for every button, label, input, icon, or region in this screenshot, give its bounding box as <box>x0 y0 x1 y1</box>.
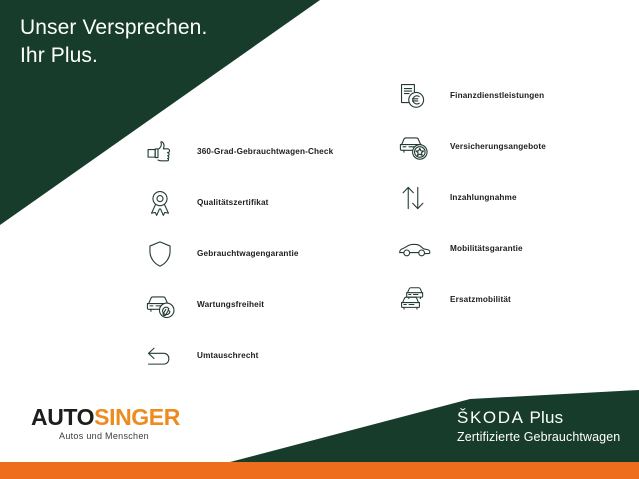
feature-item-insurance-offers: Versicherungsangebote <box>398 121 628 172</box>
page-title: Unser Versprechen. Ihr Plus. <box>20 14 320 70</box>
feature-item-360-check: 360-Grad-Gebrauchtwagen-Check <box>145 126 385 177</box>
feature-label: Ersatzmobilität <box>450 294 511 305</box>
car-star-icon <box>398 125 450 169</box>
feature-item-return-right: Umtauschrecht <box>145 330 385 381</box>
car-side-icon <box>398 227 450 271</box>
shield-icon <box>145 232 197 276</box>
brand-badge-title: ŠKODA Plus <box>457 408 637 428</box>
brand-badge: ŠKODA Plus Zertifizierte Gebrauchtwagen <box>457 408 637 445</box>
dealer-logo: AUTOSINGER Autos und Menschen <box>31 404 231 441</box>
feature-item-warranty: Gebrauchtwagengarantie <box>145 228 385 279</box>
brand-suffix: Plus <box>529 408 563 427</box>
car-wrench-icon <box>145 283 197 327</box>
feature-label: Mobilitätsgarantie <box>450 243 523 254</box>
page-title-line-2: Ihr Plus. <box>20 42 320 70</box>
page-title-line-1: Unser Versprechen. <box>20 14 320 42</box>
two-cars-icon <box>398 278 450 322</box>
feature-list-left: 360-Grad-Gebrauchtwagen-Check Qualitätsz… <box>145 126 385 381</box>
thumbs-up-icon <box>145 130 197 174</box>
document-euro-icon <box>398 74 450 118</box>
feature-label: Qualitätszertifikat <box>197 197 269 208</box>
feature-label: Inzahlungnahme <box>450 192 517 203</box>
feature-item-trade-in: Inzahlungnahme <box>398 172 628 223</box>
footer-orange-bar <box>0 462 639 479</box>
feature-label: 360-Grad-Gebrauchtwagen-Check <box>197 146 333 157</box>
feature-item-quality-certificate: Qualitätszertifikat <box>145 177 385 228</box>
feature-label: Wartungsfreiheit <box>197 299 264 310</box>
award-rosette-icon <box>145 181 197 225</box>
dealer-tagline: Autos und Menschen <box>31 431 177 441</box>
feature-label: Finanzdienstleistungen <box>450 90 544 101</box>
promo-banner: Unser Versprechen. Ihr Plus. 360-Grad-Ge… <box>0 0 639 479</box>
up-down-arrows-icon <box>398 176 450 220</box>
feature-label: Gebrauchtwagengarantie <box>197 248 299 259</box>
feature-item-replacement-mobility: Ersatzmobilität <box>398 274 628 325</box>
feature-label: Umtauschrecht <box>197 350 259 361</box>
dealer-wordmark: AUTOSINGER <box>31 404 231 430</box>
feature-list-right: Finanzdienstleistungen Versicherungsange… <box>398 70 628 325</box>
brand-badge-subtitle: Zertifizierte Gebrauchtwagen <box>457 429 637 445</box>
feature-item-maintenance-free: Wartungsfreiheit <box>145 279 385 330</box>
brand-name: ŠKODA <box>457 408 525 427</box>
dealer-wordmark-part1: AUTO <box>31 404 94 430</box>
feature-item-mobility-guarantee: Mobilitätsgarantie <box>398 223 628 274</box>
feature-label: Versicherungsangebote <box>450 141 546 152</box>
return-arrow-icon <box>145 334 197 378</box>
dealer-wordmark-part2: SINGER <box>94 404 180 430</box>
feature-item-financial-services: Finanzdienstleistungen <box>398 70 628 121</box>
